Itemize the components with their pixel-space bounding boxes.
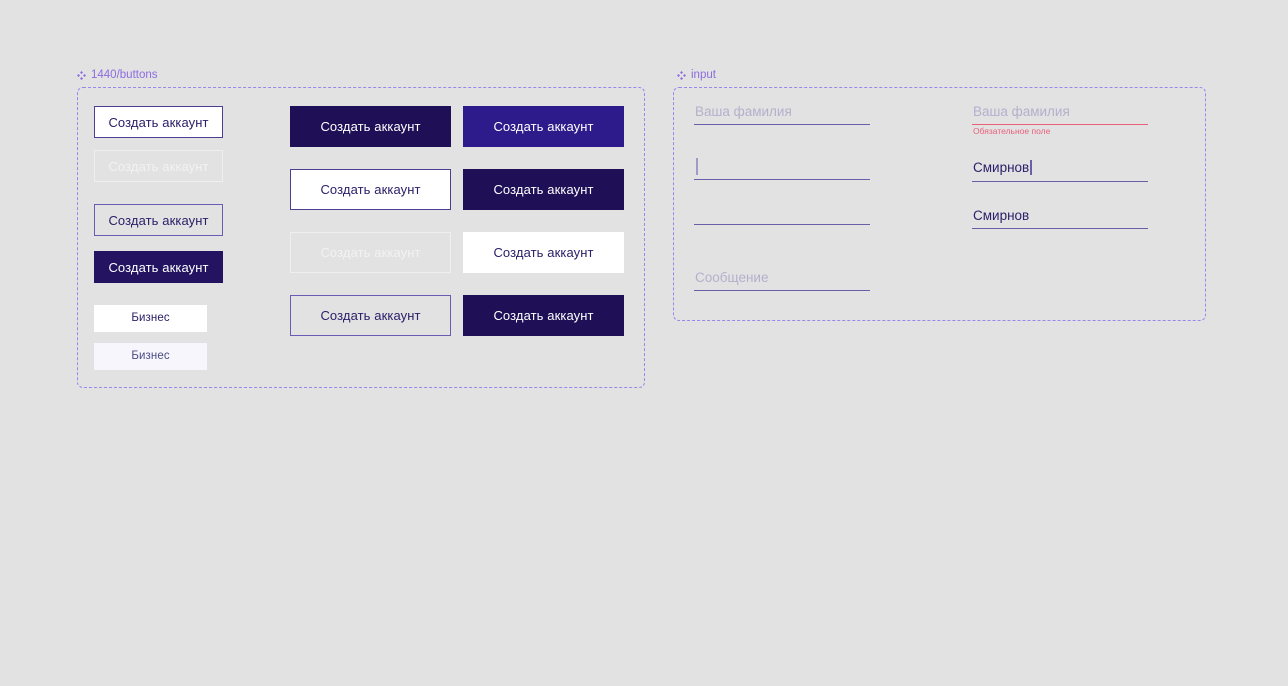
button-create-account-disabled-lg: Создать аккаунт: [290, 232, 451, 273]
input-value: Смирнов: [973, 209, 1029, 223]
button-label: Создать аккаунт: [108, 214, 208, 227]
button-label: Создать аккаунт: [493, 183, 593, 196]
text-caret: [696, 158, 698, 175]
component-diamond-icon: [677, 71, 686, 80]
input-underline: [694, 124, 870, 126]
button-create-account-disabled: Создать аккаунт: [94, 150, 223, 182]
button-label: Создать аккаунт: [493, 246, 593, 259]
input-surname-placeholder[interactable]: Ваша фамилия: [694, 100, 870, 125]
button-business-white[interactable]: Бизнес: [94, 305, 207, 332]
input-underline: [694, 179, 870, 181]
input-underline: [972, 181, 1148, 183]
component-diamond-icon: [77, 71, 86, 80]
button-label: Создать аккаунт: [108, 116, 208, 129]
button-label: Создать аккаунт: [320, 120, 420, 133]
input-value: Смирнов: [973, 160, 1029, 175]
frame-label-buttons-text: 1440/buttons: [91, 70, 158, 82]
input-focused-empty[interactable]: [694, 155, 870, 180]
button-create-account-primary-lg-2[interactable]: Создать аккаунт: [463, 169, 624, 210]
frame-label-input-text: input: [691, 70, 716, 82]
input-placeholder: Ваша фамилия: [973, 105, 1070, 119]
button-create-account-outline-lg[interactable]: Создать аккаунт: [290, 169, 451, 210]
button-label: Создать аккаунт: [108, 261, 208, 274]
input-empty[interactable]: [694, 200, 870, 225]
button-label: Создать аккаунт: [493, 120, 593, 133]
input-message-placeholder[interactable]: Сообщение: [694, 266, 870, 291]
frame-label-input[interactable]: input: [677, 70, 716, 82]
button-create-account-hover-lg[interactable]: Создать аккаунт: [463, 106, 624, 147]
button-label: Создать аккаунт: [320, 309, 420, 322]
input-error-message: Обязательное поле: [973, 127, 1050, 136]
input-surname-filled[interactable]: Смирнов: [972, 202, 1148, 229]
button-create-account-ghost[interactable]: Создать аккаунт: [94, 204, 223, 236]
text-caret: [1030, 160, 1032, 175]
input-underline: [972, 228, 1148, 230]
button-create-account-ghost-lg[interactable]: Создать аккаунт: [290, 295, 451, 336]
button-label: Бизнес: [131, 351, 169, 363]
input-surname-focused-filled[interactable]: Смирнов: [972, 155, 1148, 182]
button-label: Создать аккаунт: [108, 160, 208, 173]
input-placeholder: Ваша фамилия: [695, 105, 792, 119]
button-label: Создать аккаунт: [320, 183, 420, 196]
button-label: Бизнес: [131, 313, 169, 325]
button-create-account-primary-lg[interactable]: Создать аккаунт: [290, 106, 451, 147]
input-value-wrapper: Смирнов: [973, 160, 1032, 175]
input-underline: [694, 224, 870, 226]
button-business-lilac[interactable]: Бизнес: [94, 343, 207, 370]
button-create-account-white-lg[interactable]: Создать аккаунт: [463, 232, 624, 273]
button-create-account-primary[interactable]: Создать аккаунт: [94, 251, 223, 283]
input-surname-error[interactable]: Ваша фамилия: [972, 100, 1148, 125]
button-label: Создать аккаунт: [320, 246, 420, 259]
button-label: Создать аккаунт: [493, 309, 593, 322]
frame-label-buttons[interactable]: 1440/buttons: [77, 70, 158, 82]
input-placeholder: Сообщение: [695, 271, 768, 285]
input-underline: [694, 290, 870, 292]
button-create-account-primary-lg-3[interactable]: Создать аккаунт: [463, 295, 624, 336]
button-create-account-outline[interactable]: Создать аккаунт: [94, 106, 223, 138]
design-canvas: 1440/buttons Создать аккаунт Создать акк…: [0, 0, 1288, 686]
input-underline-error: [972, 124, 1148, 126]
